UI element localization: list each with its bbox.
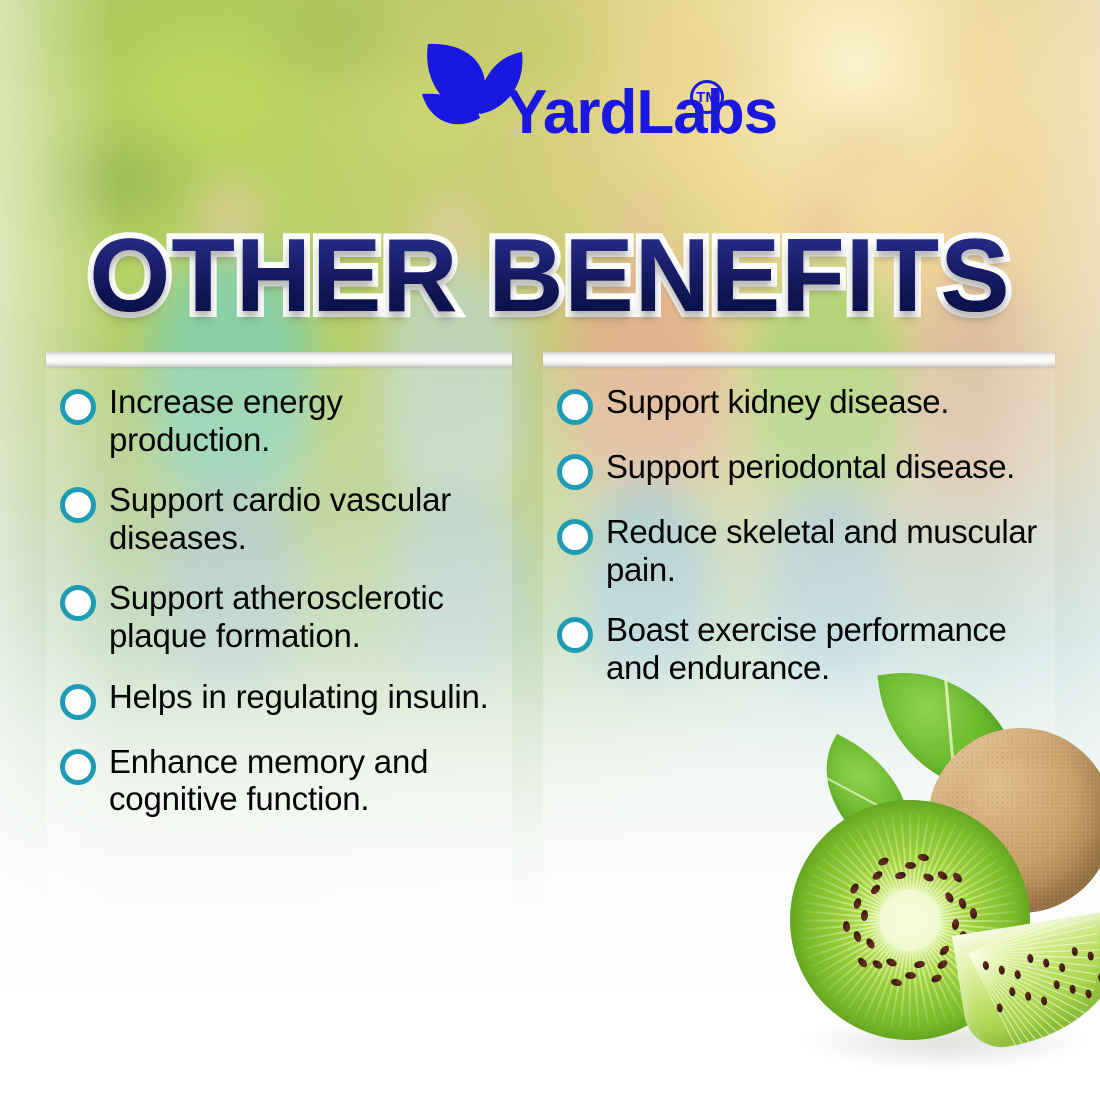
kiwi-seed (944, 890, 956, 903)
list-item-label: Support cardio vascular diseases. (109, 481, 498, 556)
brand-name: YardLabs (506, 82, 777, 144)
list-item-label: Helps in regulating insulin. (109, 678, 489, 716)
kiwi-artwork (790, 660, 1100, 1100)
benefit-list-right: Support kidney disease. Support periodon… (543, 367, 1055, 709)
kiwi-wedge-seed (1040, 996, 1047, 1006)
list-item: Support atherosclerotic plaque formation… (60, 579, 498, 654)
trademark-icon: TM (690, 80, 724, 114)
circle-bullet-icon (60, 585, 96, 621)
list-item: Reduce skeletal and muscular pain. (557, 513, 1041, 588)
kiwi-seed (856, 956, 869, 969)
kiwi-seed (905, 862, 916, 869)
benefit-list-left: Increase energy production. Support card… (46, 367, 512, 841)
list-item: Helps in regulating insulin. (60, 678, 498, 720)
list-item: Enhance memory and cognitive function. (60, 743, 498, 818)
circle-bullet-icon (60, 389, 96, 425)
kiwi-seed (905, 972, 916, 979)
list-item: Increase energy production. (60, 383, 498, 458)
circle-bullet-icon (60, 749, 96, 785)
kiwi-wedge-seed (1071, 947, 1078, 957)
circle-bullet-icon (60, 684, 96, 720)
kiwi-wedge-seed (1087, 951, 1094, 961)
kiwi-seed (913, 960, 925, 969)
list-item: Support cardio vascular diseases. (60, 481, 498, 556)
kiwi-seed (951, 871, 964, 884)
brand-logo[interactable]: YardLabs TM (418, 38, 718, 153)
kiwi-wedge-seed (1058, 963, 1065, 973)
circle-bullet-icon (60, 487, 96, 523)
circle-bullet-icon (557, 617, 593, 653)
panel-header-bar (46, 352, 512, 367)
circle-bullet-icon (557, 389, 593, 425)
list-item-label: Enhance memory and cognitive function. (109, 743, 498, 818)
list-item: Support periodontal disease. (557, 448, 1041, 490)
list-item: Support kidney disease. (557, 383, 1041, 425)
list-item-label: Reduce skeletal and muscular pain. (606, 513, 1041, 588)
panel-header-bar (543, 352, 1055, 367)
kiwi-wedge-seed (1025, 991, 1032, 1001)
list-item-label: Support kidney disease. (606, 383, 949, 421)
list-item-label: Support atherosclerotic plaque formation… (109, 579, 498, 654)
kiwi-seed (864, 936, 876, 949)
list-item-label: Support periodontal disease. (606, 448, 1015, 486)
benefits-panel-left: Increase energy production. Support card… (46, 352, 512, 1002)
circle-bullet-icon (557, 454, 593, 490)
infographic-poster: YardLabs TM OTHER BENEFITS OTHER BENEFIT… (0, 0, 1100, 1100)
circle-bullet-icon (557, 519, 593, 555)
list-item-label: Increase energy production. (109, 383, 498, 458)
page-title: OTHER BENEFITS (0, 224, 1100, 328)
